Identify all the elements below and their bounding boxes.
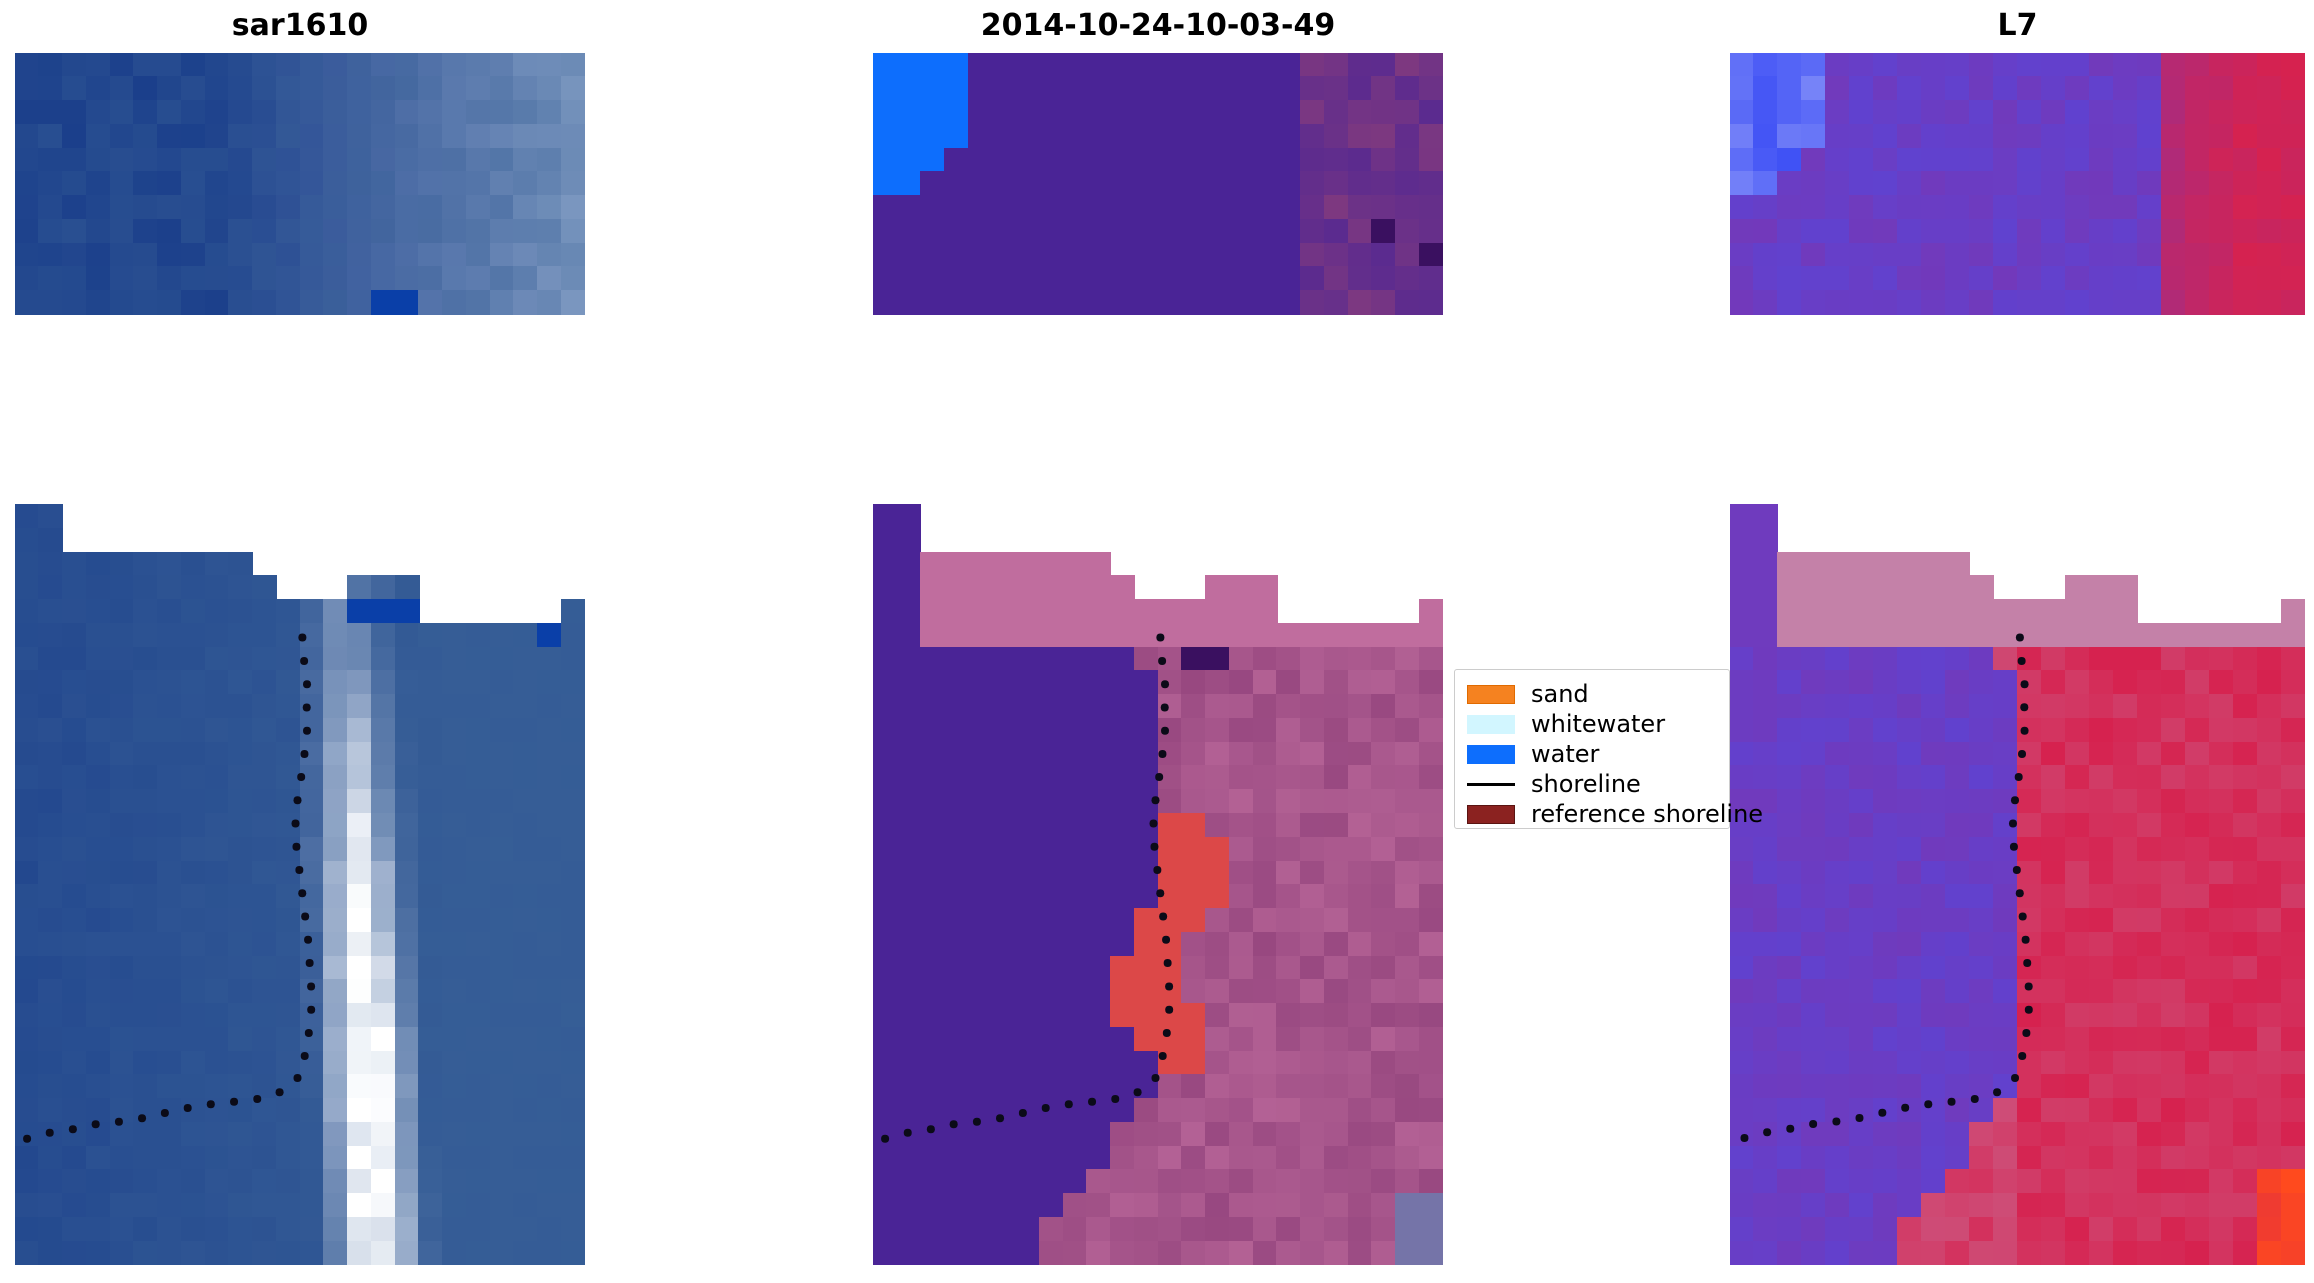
legend-item-label: sand [1531, 680, 1589, 708]
legend-item: whitewater [1467, 709, 1719, 739]
figure-canvas: sar1610 2014-10-24-10-03-49 L7 sand whit… [0, 0, 2314, 1283]
legend-item: water [1467, 739, 1719, 769]
whitewater-color-swatch [1467, 715, 1515, 734]
panel-title-satellite-rgb: sar1610 [15, 8, 585, 44]
legend-item: reference shoreline [1467, 799, 1719, 829]
reference-shoreline-color-swatch [1467, 805, 1515, 824]
landsat7-falsecolor-image [1730, 53, 2305, 1265]
water-color-swatch [1467, 745, 1515, 764]
panel-landsat7-falsecolor [1730, 53, 2305, 1265]
sand-color-swatch [1467, 685, 1515, 704]
panel-classified-overlay [873, 53, 1443, 1265]
panel-title-classified-overlay: 2014-10-24-10-03-49 [873, 8, 1443, 44]
legend-item-label: whitewater [1531, 710, 1665, 738]
legend-item: sand [1467, 679, 1719, 709]
legend-item-label: water [1531, 740, 1599, 768]
satellite-rgb-image [15, 53, 585, 1265]
legend-item-label: reference shoreline [1531, 800, 1763, 828]
panel-satellite-rgb [15, 53, 585, 1265]
classified-overlay-image [873, 53, 1443, 1265]
panel-title-landsat7-falsecolor: L7 [1730, 8, 2305, 44]
legend: sand whitewater water shoreline referenc… [1454, 669, 1730, 829]
legend-item-label: shoreline [1531, 770, 1641, 798]
shoreline-line-swatch [1467, 775, 1515, 794]
legend-item: shoreline [1467, 769, 1719, 799]
